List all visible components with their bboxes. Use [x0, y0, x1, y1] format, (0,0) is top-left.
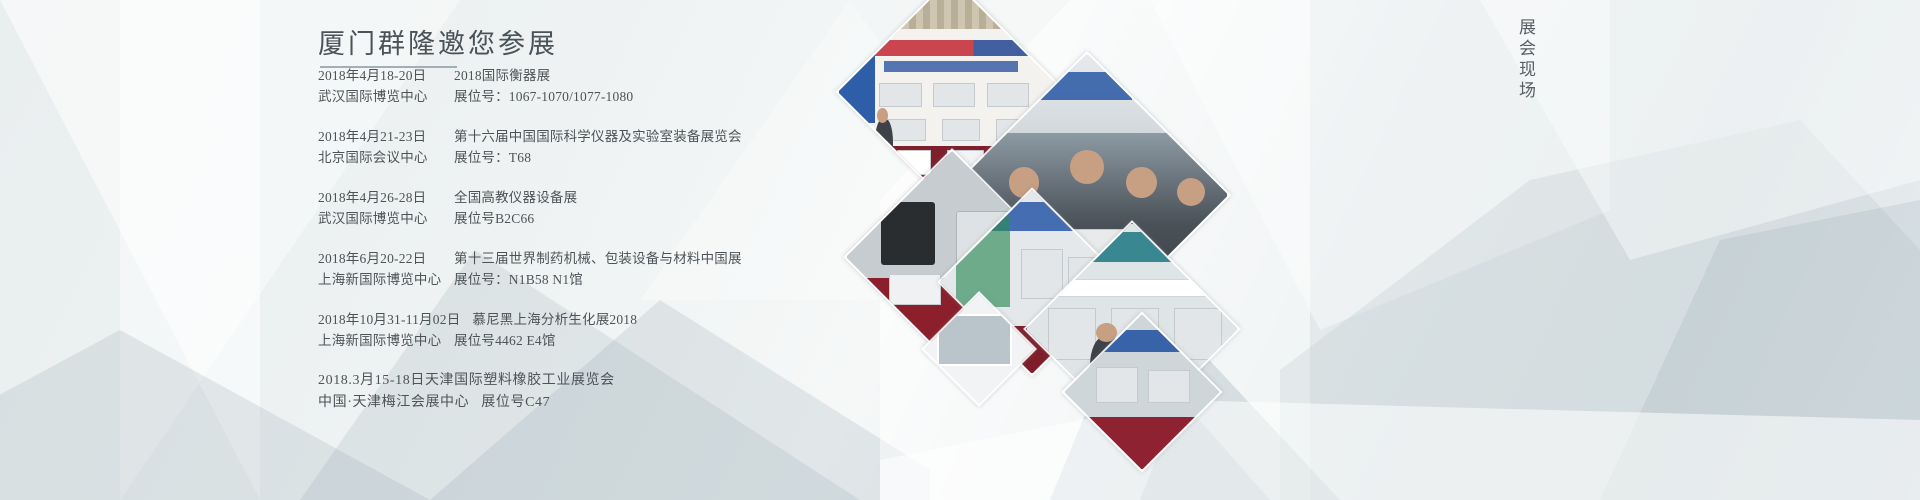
event-name: 全国高教仪器设备展 [442, 187, 577, 208]
event-item: 2018年6月20-22日第十三届世界制药机械、包装设备与材料中国展 上海新国际… [318, 248, 838, 290]
event-date: 2018年4月21-23日 [318, 126, 442, 147]
event-venue: 北京国际会议中心 [318, 147, 442, 168]
exhibition-banner: 厦门群隆邀您参展 2018年4月18-20日2018国际衡器展 武汉国际博览中心… [0, 0, 1920, 500]
event-row-venue: 中国·天津梅江会展中心展位号C47 [318, 392, 838, 414]
event-row-date: 2018年4月26-28日全国高教仪器设备展 [318, 187, 838, 208]
event-name: 慕尼黑上海分析生化展2018 [460, 309, 637, 330]
event-item: 2018年4月21-23日第十六届中国国际科学仪器及实验室装备展览会 北京国际会… [318, 126, 838, 168]
event-row-venue: 北京国际会议中心展位号：T68 [318, 147, 838, 168]
event-row-venue: 武汉国际博览中心展位号B2C66 [318, 208, 838, 229]
event-name: 第十六届中国国际科学仪器及实验室装备展览会 [442, 126, 742, 147]
event-row-venue: 武汉国际博览中心展位号：1067-1070/1077-1080 [318, 86, 838, 107]
photo-collage [860, 0, 1280, 500]
event-list: 2018年4月18-20日2018国际衡器展 武汉国际博览中心展位号：1067-… [318, 65, 838, 433]
background-facet-9 [1480, 0, 1920, 260]
event-row-date: 2018年10月31-11月02日慕尼黑上海分析生化展2018 [318, 309, 838, 330]
event-booth: 展位号：N1B58 N1馆 [442, 269, 583, 290]
background-facet-8 [1280, 120, 1920, 500]
event-venue: 上海新国际博览中心 [318, 330, 442, 351]
event-booth: 展位号4462 E4馆 [442, 330, 556, 351]
event-booth: 展位号B2C66 [442, 208, 534, 229]
event-item: 2018年4月26-28日全国高教仪器设备展 武汉国际博览中心展位号B2C66 [318, 187, 838, 229]
event-venue: 上海新国际博览中心 [318, 269, 442, 290]
event-booth: 展位号：1067-1070/1077-1080 [442, 86, 633, 107]
background-facet-10 [1600, 200, 1920, 500]
event-booth: 展位号：T68 [442, 147, 531, 168]
event-row-date: 2018年6月20-22日第十三届世界制药机械、包装设备与材料中国展 [318, 248, 838, 269]
event-name: 第十三届世界制药机械、包装设备与材料中国展 [442, 248, 742, 269]
event-item: 2018年10月31-11月02日慕尼黑上海分析生化展2018 上海新国际博览中… [318, 309, 838, 351]
event-row-date: 2018年4月18-20日2018国际衡器展 [318, 65, 838, 86]
event-row-venue: 上海新国际博览中心展位号：N1B58 N1馆 [318, 269, 838, 290]
event-item: 2018年4月18-20日2018国际衡器展 武汉国际博览中心展位号：1067-… [318, 65, 838, 107]
event-venue: 武汉国际博览中心 [318, 208, 442, 229]
event-row-venue: 上海新国际博览中心展位号4462 E4馆 [318, 330, 838, 351]
event-date: 2018年4月18-20日 [318, 65, 442, 86]
event-date: 2018年6月20-22日 [318, 248, 442, 269]
text-column: 厦门群隆邀您参展 2018年4月18-20日2018国际衡器展 武汉国际博览中心… [0, 0, 880, 500]
event-date: 2018年4月26-28日 [318, 187, 442, 208]
event-venue: 中国·天津梅江会展中心 [318, 392, 469, 414]
event-venue: 武汉国际博览中心 [318, 86, 442, 107]
event-item-last: 2018.3月15-18日天津国际塑料橡胶工业展览会 中国·天津梅江会展中心展位… [318, 370, 838, 414]
event-booth: 展位号C47 [469, 392, 550, 414]
event-row-title: 2018.3月15-18日天津国际塑料橡胶工业展览会 [318, 370, 838, 392]
page-title: 厦门群隆邀您参展 [318, 22, 558, 61]
event-date: 2018年10月31-11月02日 [318, 309, 460, 330]
vertical-section-label: 展会现场 [1512, 18, 1538, 102]
event-name: 2018国际衡器展 [442, 65, 550, 86]
event-row-date: 2018年4月21-23日第十六届中国国际科学仪器及实验室装备展览会 [318, 126, 838, 147]
